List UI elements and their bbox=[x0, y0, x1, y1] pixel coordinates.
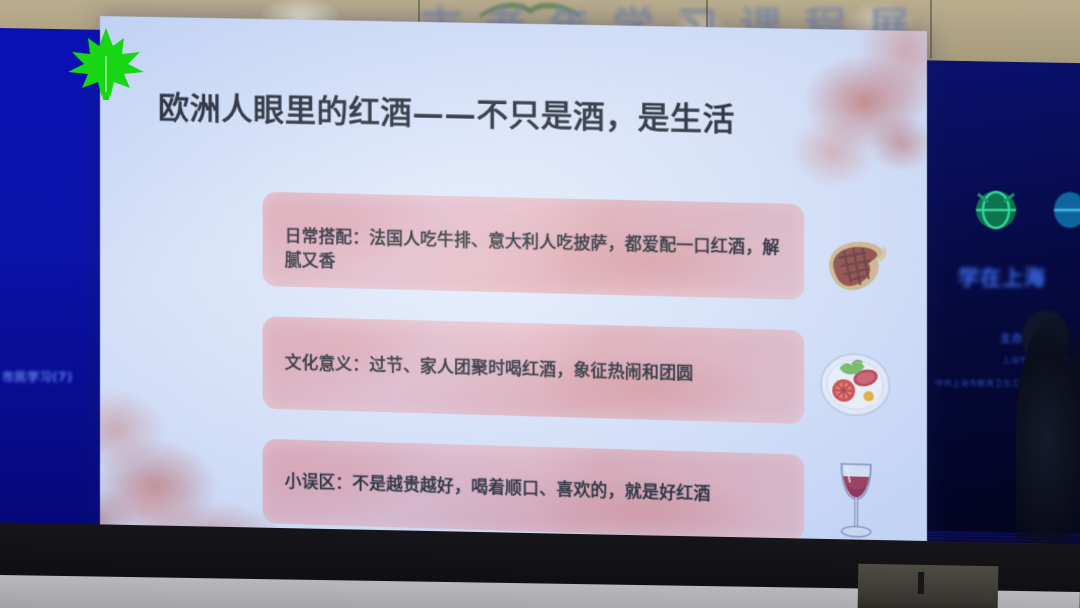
panel-title: 学在上海 bbox=[958, 262, 1080, 292]
speaker-silhouette bbox=[1016, 318, 1080, 578]
led-left-caption: 市民学习(7) bbox=[2, 368, 102, 385]
content-box-misconception: 小误区：不是越贵越好，喝着顺口、喜欢的，就是好红酒 bbox=[263, 439, 805, 540]
screenshot-scene: 市老年学习课程展 SHANGHAI EXHIBITION OF COURSES … bbox=[0, 0, 1080, 608]
content-box-cultural-meaning: 文化意义：过节、家人团聚时喝红酒，象征热闹和团圆 bbox=[263, 316, 805, 424]
content-box-text: 小误区：不是越贵越好，喝着顺口、喜欢的，就是好红酒 bbox=[285, 470, 711, 507]
content-box-text: 日常搭配：法国人吃牛排、意大利人吃披萨，都爱配一口红酒，解腻又香 bbox=[285, 208, 782, 285]
grilled-steak-icon bbox=[819, 233, 896, 300]
blue-globe-badge-icon bbox=[1050, 188, 1080, 232]
food-plate-icon bbox=[817, 349, 894, 418]
slide-content-boxes: 日常搭配：法国人吃牛排、意大利人吃披萨，都爱配一口红酒，解腻又香 文化意义：过节… bbox=[263, 192, 805, 561]
wall-seam bbox=[930, 0, 932, 58]
red-wine-glass-icon bbox=[827, 455, 885, 549]
slide-icon-column bbox=[813, 219, 917, 221]
green-maple-leaf-logo bbox=[64, 26, 148, 104]
podium-top bbox=[858, 564, 999, 608]
slide-title: 欧洲人眼里的红酒——不只是酒，是生活 bbox=[158, 91, 873, 142]
presentation-slide: 欧洲人眼里的红酒——不只是酒，是生活 日常搭配：法国人吃牛排、意大利人吃披萨，都… bbox=[100, 16, 927, 560]
blue-globe-badge-icon bbox=[970, 188, 1022, 232]
podium-slot bbox=[918, 572, 924, 594]
content-box-text: 文化意义：过节、家人团聚时喝红酒，象征热闹和团圆 bbox=[285, 351, 694, 386]
content-box-daily-pairing: 日常搭配：法国人吃牛排、意大利人吃披萨，都爱配一口红酒，解腻又香 bbox=[263, 192, 805, 300]
